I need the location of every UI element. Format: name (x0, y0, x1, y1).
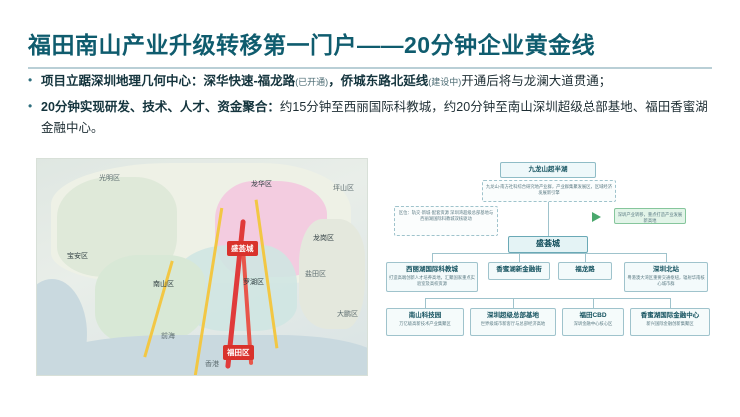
flow-node-title: 九龙山超半湖 (503, 165, 593, 174)
flow-node-shenzhenbeizhan: 深圳北站 粤港澳大湾区重要交通枢纽，辐射华南核心城市群 (624, 262, 708, 292)
flow-node-super-hq-base: 深圳超级总部基地 世界级城市新客厅与总部经济高地 (470, 308, 556, 336)
flow-node-xiangmihu-financial-center: 香蜜湖国际金融中心 新兴国际金融创新集聚区 (630, 308, 710, 336)
map-badge-futian: 福田区 (223, 345, 254, 360)
bullet-marker: • (28, 72, 41, 89)
flow-node-subtitle: 区位：轨交·新城·配套资源 深圳湾超级总部基地与西丽湖国际科教城双核驱动 (397, 210, 495, 222)
map-label-qianhai: 前海 (161, 331, 175, 341)
flow-connector-vertical (670, 298, 671, 308)
strategy-flow-diagram: 九龙山超半湖 九龙山-南方社科综合研究地产业群，产业群集聚发展区，区域经济发展新… (378, 158, 716, 374)
map-label-pingshan: 坪山区 (333, 183, 354, 193)
bullet-marker: • (28, 98, 41, 115)
map-label-baoan: 宝安区 (67, 251, 88, 261)
bullet-note-a: (已开通) (295, 77, 328, 87)
flow-connector-vertical (585, 253, 586, 262)
flow-connector-vertical (425, 298, 426, 308)
flow-node-subtitle: 万亿级高新技术产业集聚区 (389, 321, 461, 327)
bullet-text: 项目立踞深圳地理几何中心：深华快速-福龙路(已开通)，侨城东路北延线(建设中)开… (41, 72, 718, 91)
shenzhen-location-map: 盛荟城 福田区 光明区 宝安区 龙华区 龙岗区 南山区 罗湖区 坪山区 盐田区 … (36, 158, 368, 376)
flow-node-center-shenghuicheng: 盛荟城 (508, 236, 588, 253)
map-label-hongkong: 香港 (205, 359, 219, 369)
bullet-note-b: (建设中) (428, 77, 461, 87)
flow-node-subtitle: 新兴国际金融创新集聚区 (633, 321, 707, 327)
flow-node-jiulongshan: 九龙山超半湖 (500, 162, 596, 178)
map-label-yantian: 盐田区 (305, 269, 326, 279)
flow-connector-horizontal (432, 253, 666, 254)
title-divider (28, 67, 712, 69)
list-item: • 项目立踞深圳地理几何中心：深华快速-福龙路(已开通)，侨城东路北延线(建设中… (28, 72, 718, 91)
flow-node-title: 深圳超级总部基地 (473, 311, 553, 320)
bullet-lead: 项目立踞深圳地理几何中心： (41, 74, 204, 88)
flow-node-title: 深圳北站 (627, 265, 705, 274)
map-badge-shenghuicheng: 盛荟城 (227, 241, 258, 256)
bullet-text-b: ，侨城东路北延线 (328, 74, 428, 88)
flow-node-left-note: 区位：轨交·新城·配套资源 深圳湾超级总部基地与西丽湖国际科教城双核驱动 (394, 206, 498, 236)
bullet-lead: 20分钟实现研发、技术、人才、资金聚合： (41, 100, 280, 114)
list-item: • 20分钟实现研发、技术、人才、资金聚合：约15分钟至西丽国际科教城，约20分… (28, 98, 718, 137)
map-label-luohu: 罗湖区 (243, 277, 264, 287)
bullet-text-a: 约15分钟至西丽国际科教城，约20分钟至南山深圳超级总部基地、福田香蜜湖 (280, 100, 708, 114)
flow-node-title: 福龙路 (561, 265, 609, 274)
flow-node-title: 西丽湖国际科教城 (389, 265, 475, 274)
flow-node-title: 香蜜湖国际金融中心 (633, 311, 707, 320)
flow-node-jiulongshan-desc: 九龙山-南方社科综合研究地产业群，产业群集聚发展区，区域经济发展新引擎 (482, 180, 616, 202)
flow-connector-vertical (432, 253, 433, 262)
flow-connector-vertical (593, 298, 594, 308)
bullet-list: • 项目立踞深圳地理几何中心：深华快速-福龙路(已开通)，侨城东路北延线(建设中… (28, 72, 718, 144)
bullet-text: 20分钟实现研发、技术、人才、资金聚合：约15分钟至西丽国际科教城，约20分钟至… (41, 98, 718, 137)
flow-node-title: 香蜜湖新金融街 (491, 265, 547, 274)
flow-connector-vertical (513, 298, 514, 308)
flow-node-subtitle: 世界级城市新客厅与总部经济高地 (473, 321, 553, 327)
map-label-longhua: 龙华区 (251, 179, 272, 189)
map-label-guangming: 光明区 (99, 173, 120, 183)
flow-node-futian-cbd: 福田CBD 深圳金融中心核心区 (562, 308, 624, 336)
bullet-text-a: 深华快速-福龙路 (204, 74, 296, 88)
flow-node-subtitle: 九龙山-南方社科综合研究地产业群，产业群集聚发展区，区域经济发展新引擎 (485, 184, 613, 196)
flow-connector-vertical (666, 253, 667, 262)
map-label-dapeng: 大鹏区 (337, 309, 358, 319)
map-label-longgang: 龙岗区 (313, 233, 334, 243)
flow-connector-vertical (519, 253, 520, 262)
flow-node-subtitle: 深圳产业转移，重点打造产业发展新高地 (617, 212, 683, 224)
flow-connector-horizontal (425, 298, 670, 299)
slide-root: 福田南山产业升级转移第一门户——20分钟企业黄金线 • 项目立踞深圳地理几何中心… (0, 0, 740, 417)
flow-node-fulonglu: 福龙路 (558, 262, 612, 280)
page-title: 福田南山产业升级转移第一门户——20分钟企业黄金线 (28, 26, 712, 60)
flow-node-subtitle: 深圳金融中心核心区 (565, 321, 621, 327)
map-label-nanshan: 南山区 (153, 279, 174, 289)
flow-node-title: 盛荟城 (511, 239, 585, 248)
flow-node-green-tag: 深圳产业转移，重点打造产业发展新高地 (614, 208, 686, 224)
flow-node-xilihu: 西丽湖国际科教城 打造高端创新人才培养高地，汇聚国家重点实验室及高校资源 (386, 262, 478, 292)
flow-node-subtitle: 粤港澳大湾区重要交通枢纽，辐射华南核心城市群 (627, 275, 705, 287)
flow-node-xiangmihu: 香蜜湖新金融街 (488, 262, 550, 280)
flow-node-subtitle: 打造高端创新人才培养高地，汇聚国家重点实验室及高校资源 (389, 275, 475, 287)
flow-node-title: 南山科技园 (389, 311, 461, 320)
flow-node-nanshan-keji-yuan: 南山科技园 万亿级高新技术产业集聚区 (386, 308, 464, 336)
flow-connector-vertical (548, 202, 549, 236)
arrow-right-icon (592, 212, 601, 222)
bullet-text-c: 开通后将与龙澜大道贯通； (461, 74, 611, 88)
bullet-text-line2: 金融中心。 (41, 119, 718, 137)
flow-node-title: 福田CBD (565, 311, 621, 320)
title-block: 福田南山产业升级转移第一门户——20分钟企业黄金线 (28, 26, 712, 69)
